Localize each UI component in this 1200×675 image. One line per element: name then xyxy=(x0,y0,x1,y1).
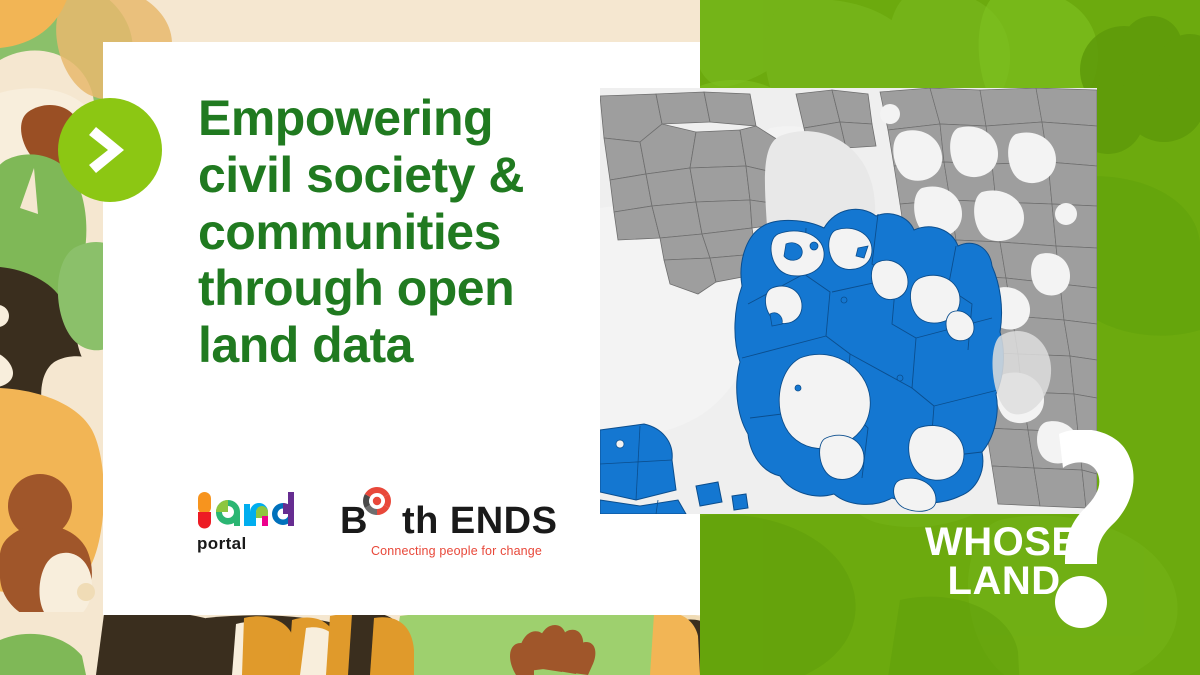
land-portal-logo[interactable]: portal xyxy=(196,490,314,558)
slide-canvas: Empowering civil society & communities t… xyxy=(0,0,1200,675)
chevron-badge[interactable] xyxy=(58,98,162,202)
both-ends-name-part2: th ENDS xyxy=(402,500,558,542)
both-ends-name-part1: B xyxy=(340,500,368,542)
headline-line-3: communities xyxy=(198,204,578,261)
headline-line-4: through open xyxy=(198,260,578,317)
whose-land-line-1: WHOSE xyxy=(925,523,1079,562)
both-ends-wordmark: Bth ENDS xyxy=(340,500,557,543)
land-portal-subword: portal xyxy=(197,534,247,554)
both-ends-tagline: Connecting people for change xyxy=(371,544,542,558)
whose-land-logo[interactable]: WHOSE LAND xyxy=(925,430,1135,640)
logo-row: portal Bth ENDS Connecting people for ch… xyxy=(196,486,596,566)
headline-line-5: land data xyxy=(198,317,578,374)
both-ends-logo[interactable]: Bth ENDS Connecting people for change xyxy=(340,486,590,564)
chevron-right-icon xyxy=(88,124,132,176)
page-title: Empowering civil society & communities t… xyxy=(198,90,578,374)
whose-land-line-2: LAND xyxy=(925,562,1079,601)
whose-land-wordmark: WHOSE LAND xyxy=(925,523,1079,601)
land-wordmark-icon xyxy=(196,490,314,534)
headline-line-2: civil society & xyxy=(198,147,578,204)
headline-line-1: Empowering xyxy=(198,90,578,147)
